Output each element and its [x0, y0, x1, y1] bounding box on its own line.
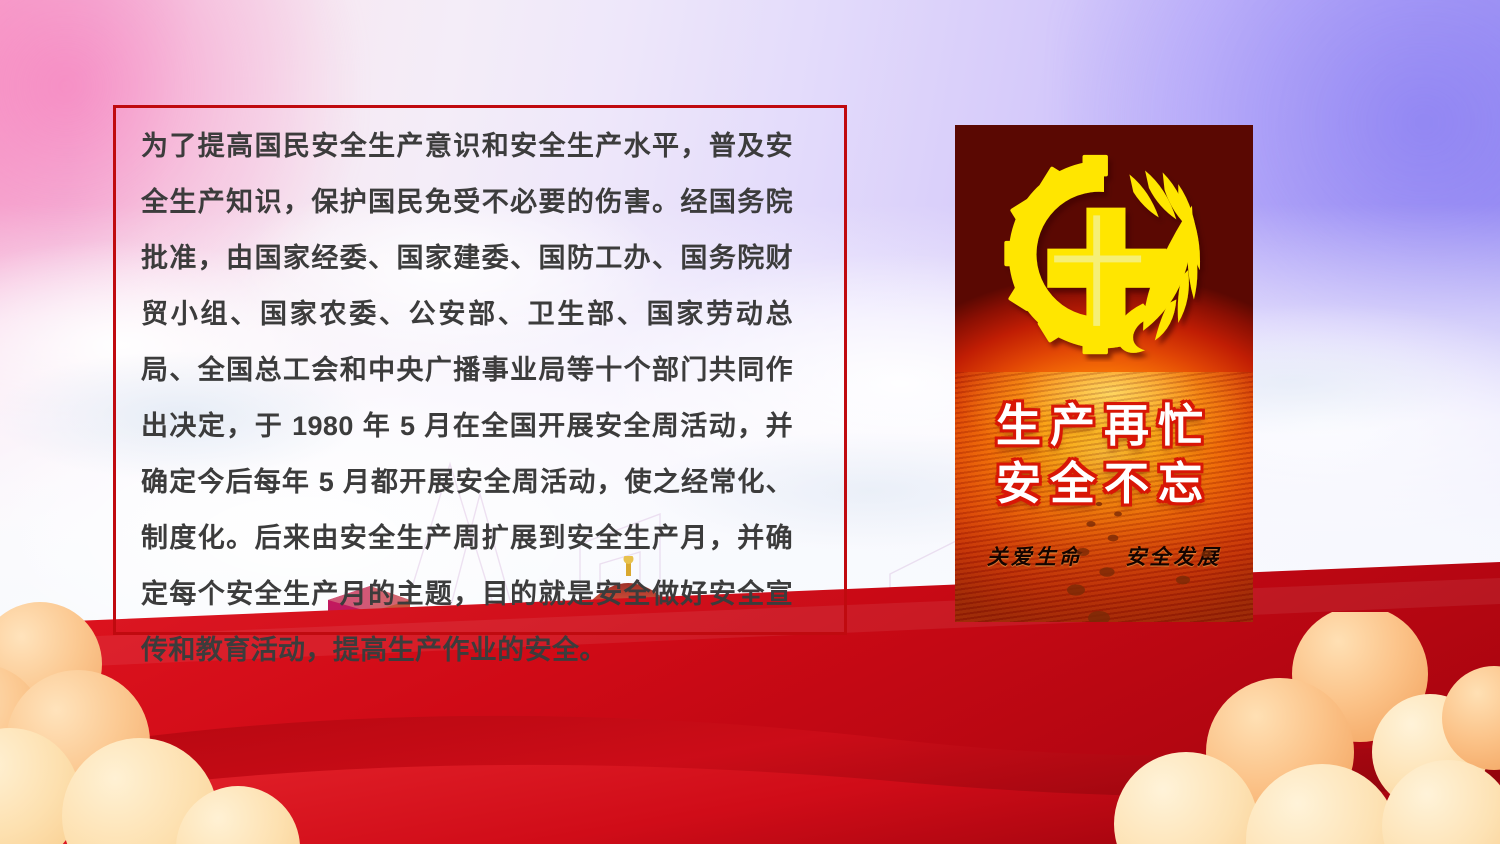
safety-emblem-icon — [997, 147, 1212, 362]
slide-canvas: 为了提高国民安全生产意识和安全生产水平，普及安全生产知识，保护国民免受不必要的伤… — [0, 0, 1500, 844]
footprints-graphic — [955, 422, 1253, 622]
body-paragraph: 为了提高国民安全生产意识和安全生产水平，普及安全生产知识，保护国民免受不必要的伤… — [141, 118, 793, 678]
decorative-cloud-right — [1100, 612, 1500, 844]
safety-poster[interactable]: 生产再忙 安全不忘 关爱生命 安全发展 — [955, 125, 1253, 622]
